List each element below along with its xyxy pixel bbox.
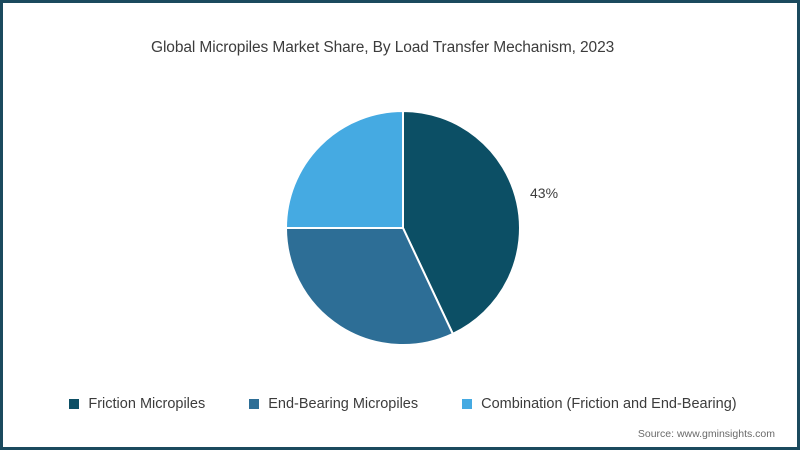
legend-label-combination: Combination (Friction and End-Bearing) [481, 396, 737, 412]
legend-swatch-icon-end-bearing-micropiles [249, 399, 259, 409]
chart-legend: Friction Micropiles End-Bearing Micropil… [3, 389, 800, 419]
legend-item-end-bearing-micropiles[interactable]: End-Bearing Micropiles [249, 396, 418, 412]
legend-item-friction-micropiles[interactable]: Friction Micropiles [69, 396, 205, 412]
legend-label-friction-micropiles: Friction Micropiles [88, 396, 205, 412]
legend-label-end-bearing-micropiles: End-Bearing Micropiles [268, 396, 418, 412]
pie-chart-svg [285, 110, 521, 346]
legend-swatch-icon-friction-micropiles [69, 399, 79, 409]
pie-slice-group [286, 111, 520, 345]
pie-chart-area: 43% [3, 3, 800, 363]
legend-swatch-icon-combination [462, 399, 472, 409]
source-note: Source: www.gminsights.com [638, 428, 775, 440]
pie-slice-value-label-friction-micropiles: 43% [530, 185, 558, 201]
legend-item-combination[interactable]: Combination (Friction and End-Bearing) [462, 396, 737, 412]
chart-card: Global Micropiles Market Share, By Load … [0, 0, 800, 450]
pie-slice[interactable] [286, 111, 403, 228]
